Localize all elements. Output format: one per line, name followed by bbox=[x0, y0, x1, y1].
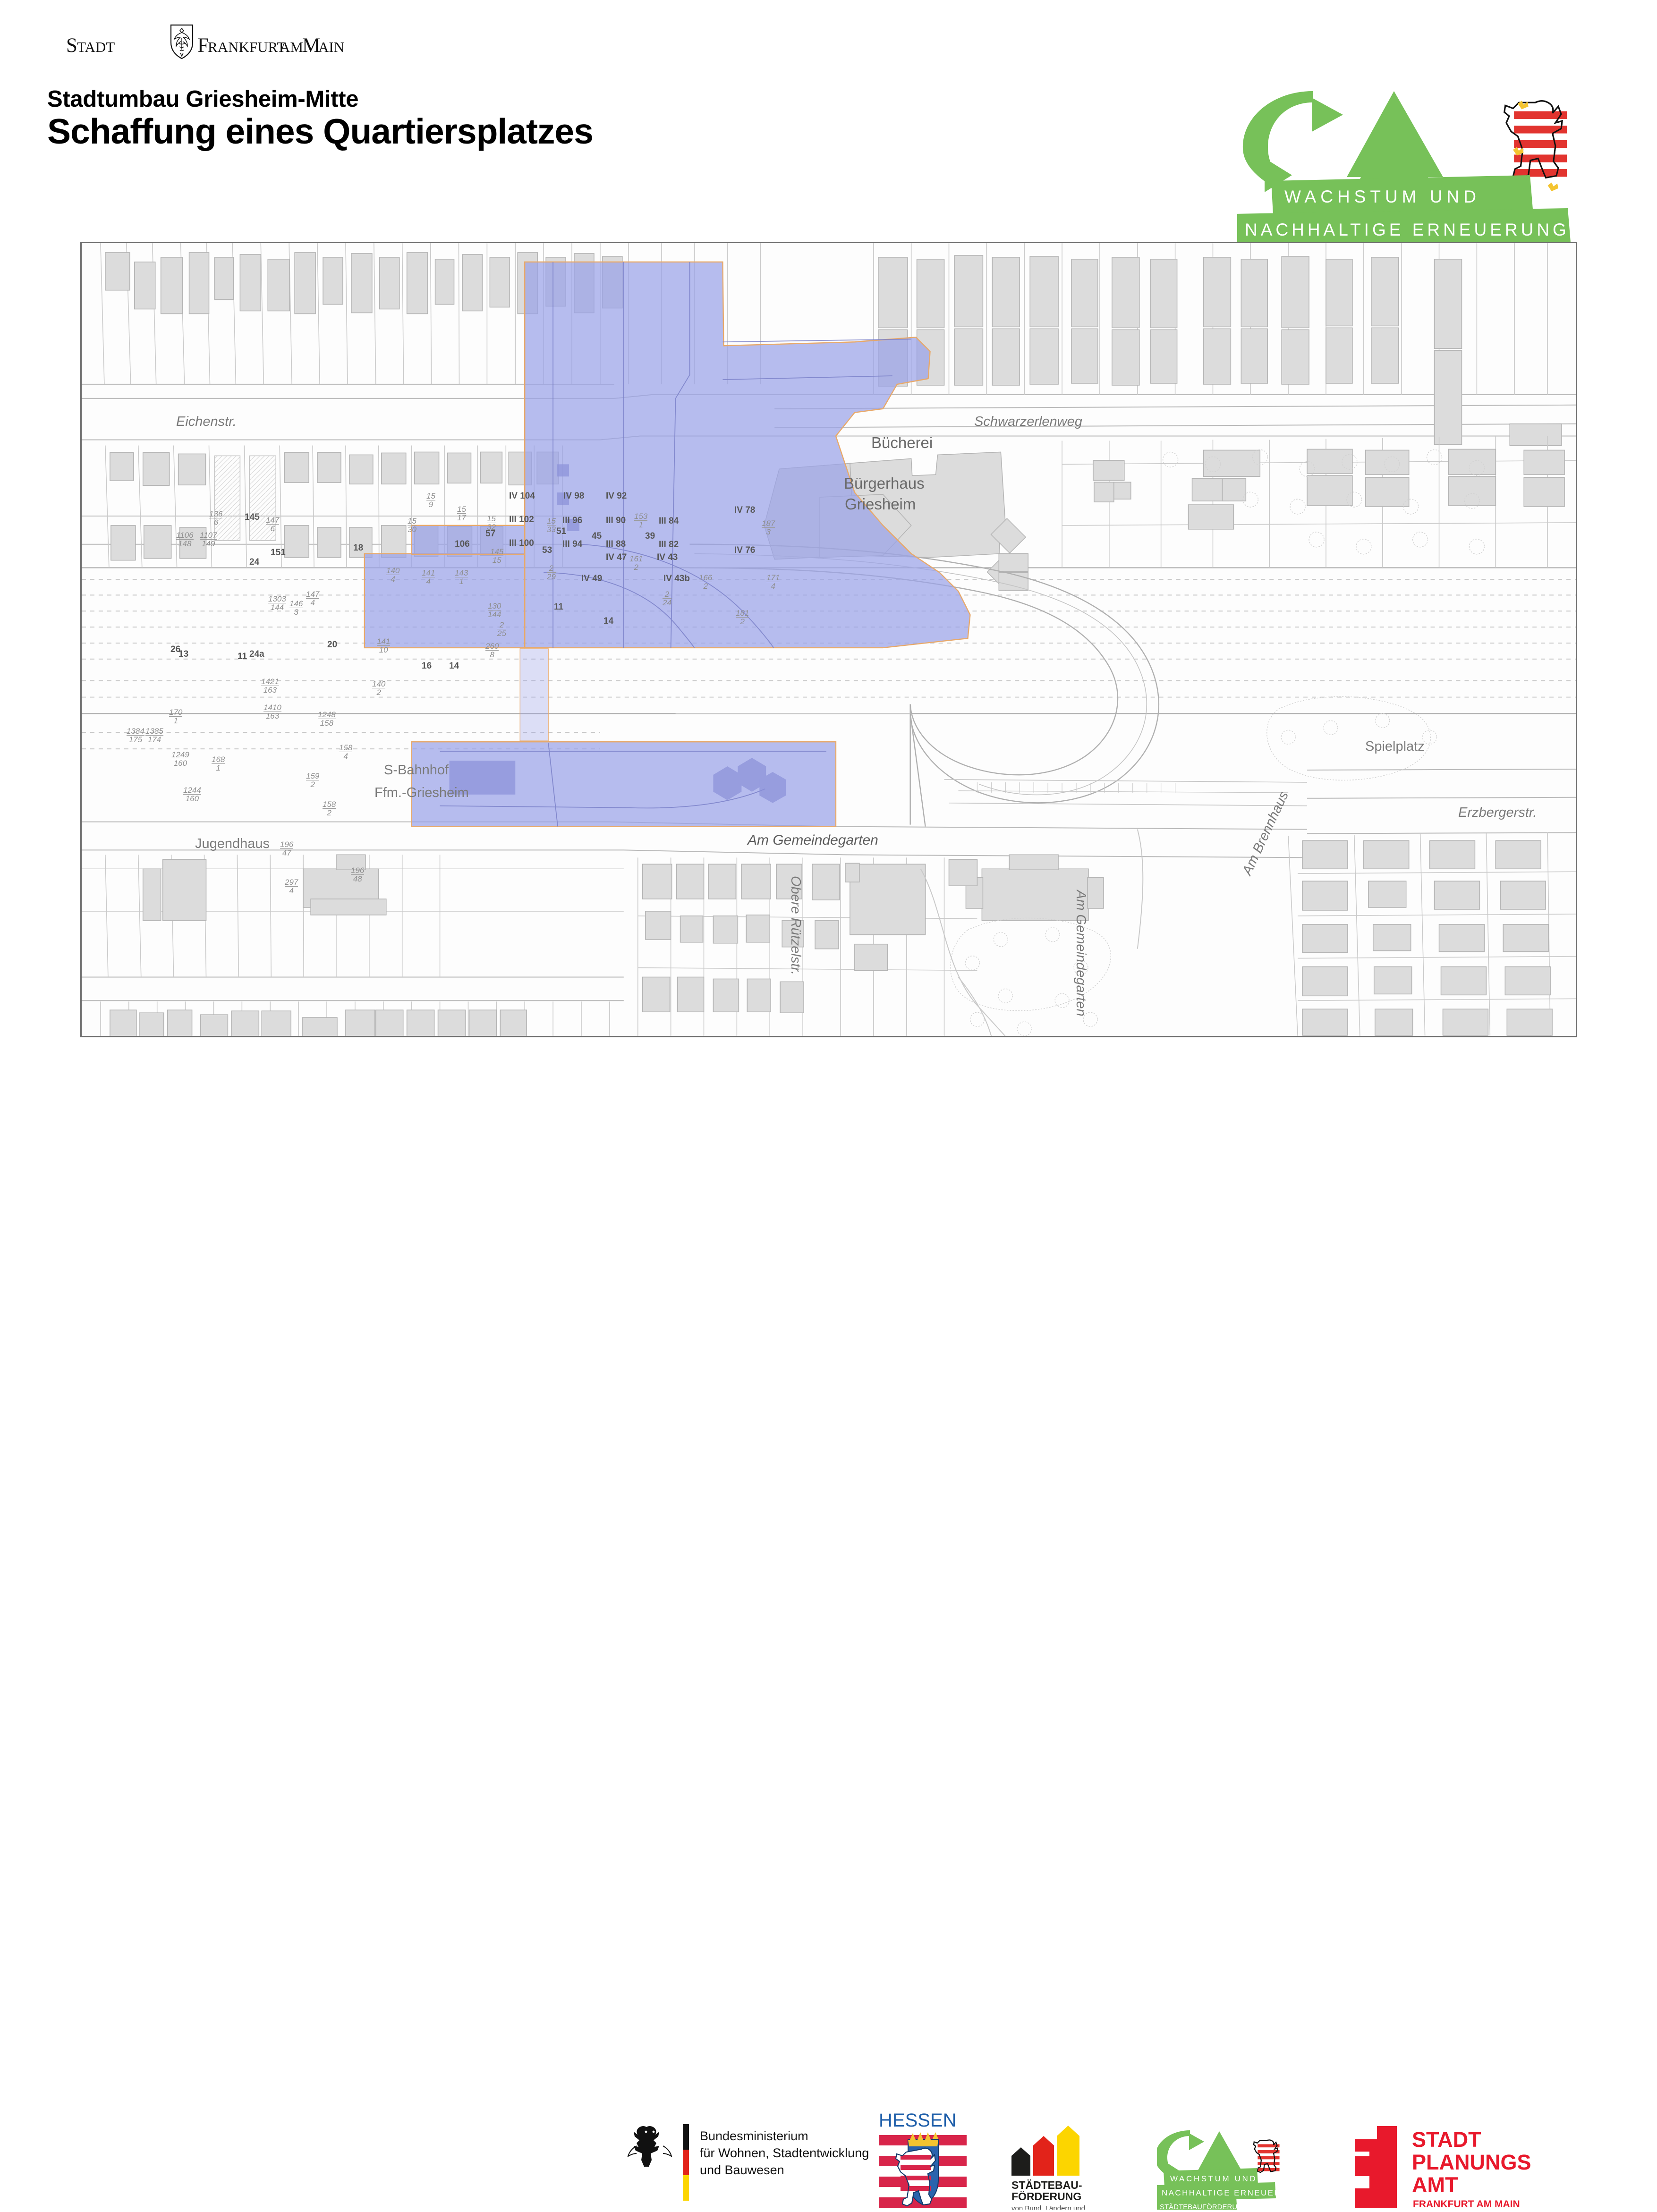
parcel-number: 1414 bbox=[422, 569, 435, 585]
city-of-frankfurt-logo: STADT FRANKFURT AM MAIN bbox=[66, 24, 368, 61]
parcel-number: 1421163 bbox=[261, 678, 279, 694]
parcel-number: 14 bbox=[449, 661, 459, 671]
parcel-number: IV 104 bbox=[509, 491, 535, 501]
parcel-number: 24a bbox=[249, 649, 264, 660]
wachstum-line-1: WACHSTUM UND bbox=[1170, 2174, 1257, 2183]
parcel-number: IV 76 bbox=[734, 545, 755, 556]
federal-eagle-icon bbox=[628, 2126, 671, 2167]
stadtplanung-line-3: AMT bbox=[1412, 2173, 1458, 2197]
parcel-number: 1714 bbox=[766, 574, 780, 590]
parcel-number: 1385174 bbox=[145, 727, 163, 744]
parcel-number: 19648 bbox=[351, 866, 364, 883]
parcel-number: III 88 bbox=[606, 539, 626, 550]
parcel-number: 1431 bbox=[455, 569, 468, 585]
parcel-number: 225 bbox=[497, 621, 506, 637]
svg-text:S: S bbox=[66, 34, 77, 57]
bmwsb-line-3: und Bauwesen bbox=[700, 2163, 784, 2177]
staedtebau-line-3: von Bund, Ländern und bbox=[1011, 2204, 1085, 2210]
bmwsb-line-1: Bundesministerium bbox=[700, 2129, 808, 2143]
parcel-number: 1402 bbox=[372, 680, 385, 696]
parcel-number: 1592 bbox=[306, 772, 319, 788]
parcel-number: 1584 bbox=[339, 744, 352, 760]
parcel-number: 14 bbox=[603, 616, 613, 627]
logo-staedtebaufoerderung: STÄDTEBAU- FÖRDERUNG von Bund, Ländern u… bbox=[1006, 2125, 1114, 2210]
poi-label-s-bahnhof: S-Bahnhof bbox=[384, 763, 449, 778]
parcel-number: IV 78 bbox=[734, 505, 755, 516]
bmwsb-line-2: für Wohnen, Stadtentwicklung bbox=[700, 2146, 869, 2160]
parcel-number: 1244160 bbox=[183, 786, 201, 803]
staedtebau-line-2: FÖRDERUNG bbox=[1011, 2190, 1081, 2203]
parcel-number: 1107149 bbox=[200, 531, 217, 548]
stadtplanung-line-2: PLANUNGS bbox=[1412, 2150, 1531, 2174]
parcel-number: III 90 bbox=[606, 516, 626, 526]
parcel-number: III 96 bbox=[562, 516, 582, 526]
parcel-number: 2608 bbox=[485, 642, 499, 659]
parcel-number: IV 43 bbox=[657, 552, 678, 563]
parcel-number: 1662 bbox=[699, 574, 712, 590]
parcel-number: 1701 bbox=[169, 708, 182, 725]
banner-wachstum-und: WACHSTUM UND bbox=[1271, 175, 1533, 215]
parcel-number: 13 bbox=[178, 649, 188, 660]
parcel-number: IV 49 bbox=[581, 574, 602, 584]
parcel-number: 1476 bbox=[266, 516, 279, 533]
logo-bundesministerium-wohnen-stadtentwicklung-bauwesen: Bundesministerium für Wohnen, Stadtentwi… bbox=[623, 2118, 869, 2207]
parcel-number: 1474 bbox=[306, 590, 319, 607]
poi-label-buergerhaus: Bürgerhaus bbox=[844, 475, 925, 492]
svg-text:AIN: AIN bbox=[318, 39, 344, 55]
poi-label-spielplatz: Spielplatz bbox=[1365, 739, 1425, 754]
parcel-number: 1106148 bbox=[176, 531, 194, 548]
parcel-number: 1303144 bbox=[268, 595, 286, 611]
parcel-number: 57 bbox=[485, 529, 495, 539]
parcel-number: 1249160 bbox=[171, 751, 189, 767]
parcel-number: 159 bbox=[426, 492, 435, 509]
svg-text:M: M bbox=[302, 34, 320, 57]
poi-label-griesheim: Griesheim bbox=[845, 495, 916, 513]
parcel-number: III 102 bbox=[509, 515, 534, 525]
parcel-number: 1612 bbox=[629, 555, 643, 571]
parcel-number: 11 bbox=[238, 652, 247, 662]
wachstum-line-3: STÄDTEBAUFÖRDERUNG HESSEN bbox=[1160, 2203, 1279, 2210]
parcel-number: 1517 bbox=[457, 505, 466, 522]
parcel-number: 39 bbox=[645, 531, 655, 542]
parcel-number: 1873 bbox=[762, 519, 775, 536]
parcel-number: 106 bbox=[455, 539, 470, 550]
parcel-number: 151 bbox=[271, 548, 286, 558]
parcel-number: 1531 bbox=[634, 512, 647, 529]
street-label-schwarzerlenweg: Schwarzerlenweg bbox=[974, 414, 1082, 430]
funding-logo-strip: Bundesministerium für Wohnen, Stadtentwi… bbox=[0, 1053, 1657, 1171]
banner-line-2: NACHHALTIGE ERNEUERUNG bbox=[1245, 220, 1570, 239]
banner-line-1: WACHSTUM UND bbox=[1284, 187, 1480, 206]
stadtplanungsamt-mark-icon bbox=[1355, 2126, 1397, 2208]
parcel-number: 14515 bbox=[490, 548, 503, 564]
parcel-number: 24 bbox=[249, 557, 259, 568]
parcel-number: 145 bbox=[245, 512, 260, 523]
cadastral-map[interactable]: Eichenstr. Schwarzerlenweg Erzbergerstr.… bbox=[80, 242, 1577, 1037]
three-houses-icon bbox=[1011, 2126, 1079, 2176]
street-label-eichenstr: Eichenstr. bbox=[176, 414, 237, 430]
parcel-number: IV 43b bbox=[663, 574, 690, 584]
parcel-number: 229 bbox=[547, 564, 556, 581]
poi-label-ffm-griesheim: Ffm.-Griesheim bbox=[374, 785, 469, 801]
parcel-number: III 94 bbox=[562, 539, 582, 550]
parcel-number: 20 bbox=[327, 640, 337, 650]
parcel-number: 19647 bbox=[280, 840, 293, 857]
parcel-number: 1530 bbox=[408, 517, 416, 534]
parcel-number: 16 bbox=[422, 661, 432, 671]
parcel-number: 1533 bbox=[547, 517, 556, 534]
logo-hessen: HESSEN bbox=[876, 2110, 970, 2210]
hessen-wordmark: HESSEN bbox=[879, 2110, 957, 2131]
parcel-number: 1384175 bbox=[127, 727, 144, 744]
street-label-am-gemeindegarten-vertical: Am Gemeindegarten bbox=[1073, 890, 1088, 1017]
street-label-erzbergerstr: Erzbergerstr. bbox=[1458, 805, 1537, 821]
poi-label-buecherei: Bücherei bbox=[871, 434, 933, 452]
svg-text:F: F bbox=[197, 34, 209, 57]
street-label-am-gemeindegarten: Am Gemeindegarten bbox=[748, 832, 878, 848]
project-subtitle: Stadtumbau Griesheim-Mitte bbox=[47, 86, 358, 112]
parcel-number: 1410163 bbox=[263, 703, 281, 720]
parcel-number: 130144 bbox=[488, 602, 501, 619]
parcel-number: 1366 bbox=[209, 510, 222, 526]
logo-stadtplanungsamt-frankfurt: STADT PLANUNGS AMT FRANKFURT AM MAIN bbox=[1332, 2122, 1544, 2212]
parcel-number: 11 bbox=[554, 602, 563, 612]
parcel-number: 224 bbox=[663, 590, 671, 607]
logo-wachstum-und-nachhaltige-erneuerung-small: WACHSTUM UND NACHHALTIGE ERNEUERUNG STÄD… bbox=[1157, 2129, 1299, 2210]
page-title: Schaffung eines Quartiersplatzes bbox=[47, 111, 593, 152]
poi-label-jugendhaus: Jugendhaus bbox=[195, 836, 270, 852]
street-label-obere-ruetzelstr: Obere Rützelstr. bbox=[788, 876, 803, 975]
hessen-lion-icon bbox=[1254, 2140, 1280, 2172]
wachstum-line-2: NACHHALTIGE ERNEUERUNG bbox=[1162, 2188, 1299, 2197]
svg-text:RANKFURT: RANKFURT bbox=[208, 39, 286, 55]
parcel-number: 1404 bbox=[386, 567, 399, 583]
parcel-number: 45 bbox=[592, 531, 602, 542]
parcel-number: 1681 bbox=[212, 755, 225, 772]
parcel-number: IV 47 bbox=[606, 552, 627, 563]
parcel-number: 1463 bbox=[289, 600, 303, 616]
svg-text:AM: AM bbox=[280, 39, 303, 55]
svg-text:TADT: TADT bbox=[77, 39, 115, 55]
parcel-number: IV 98 bbox=[563, 491, 584, 501]
parcel-number: 14110 bbox=[377, 637, 390, 654]
parcel-number: III 84 bbox=[659, 516, 679, 526]
parcel-number: 2974 bbox=[285, 878, 298, 895]
parcel-number: III 100 bbox=[509, 538, 534, 549]
parcel-number: 53 bbox=[542, 545, 552, 556]
parcel-number: 1812 bbox=[736, 609, 749, 626]
parcel-number: 1248158 bbox=[318, 711, 336, 727]
parcel-number: 51 bbox=[556, 526, 566, 537]
stadtplanung-line-4: FRANKFURT AM MAIN bbox=[1413, 2199, 1520, 2210]
parcel-number: 1582 bbox=[323, 800, 336, 817]
parcel-number: III 82 bbox=[659, 540, 679, 550]
staedtebau-line-1: STÄDTEBAU- bbox=[1011, 2179, 1082, 2191]
parcel-number: IV 92 bbox=[606, 491, 627, 501]
stadtplanung-line-1: STADT bbox=[1412, 2127, 1481, 2152]
parcel-number: 18 bbox=[353, 543, 363, 553]
